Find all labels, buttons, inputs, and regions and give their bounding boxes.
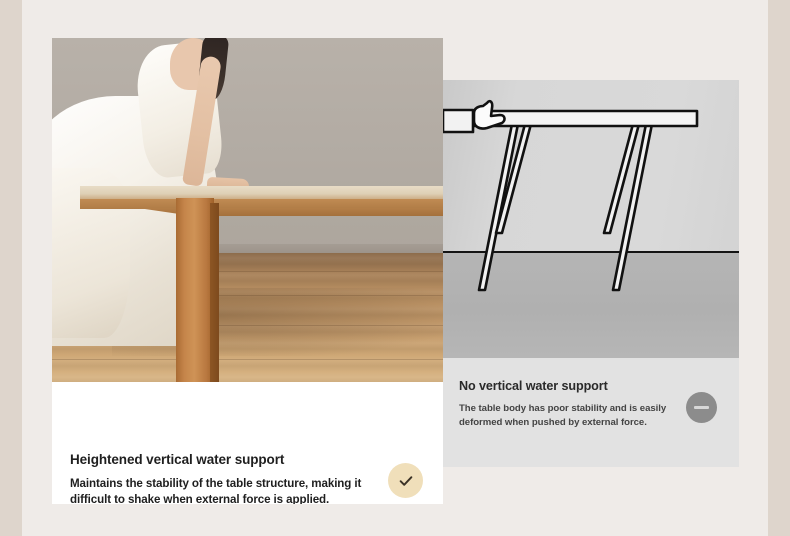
photo-table-top	[80, 186, 443, 200]
feature-description-bad: The table body has poor stability and is…	[459, 402, 681, 429]
photo-table-leg-side	[210, 203, 219, 382]
instability-diagram	[443, 80, 739, 358]
floor-plank-line	[52, 359, 443, 360]
photo-table-apron	[80, 199, 443, 209]
minus-badge	[686, 392, 717, 423]
feature-title-good: Heightened vertical water support	[70, 452, 284, 467]
feature-description-good: Maintains the stability of the table str…	[70, 476, 388, 504]
feature-title-bad: No vertical water support	[459, 379, 608, 393]
feature-card-good-caption: Heightened vertical water support Mainta…	[52, 382, 443, 504]
product-lifestyle-photo	[52, 38, 443, 382]
feature-card-bad[interactable]: No vertical water support The table body…	[443, 80, 739, 467]
minus-icon	[694, 406, 709, 409]
product-feature-comparison: Heightened vertical water support Mainta…	[0, 0, 790, 536]
diagram-forearm	[443, 110, 473, 132]
feature-card-bad-caption: No vertical water support The table body…	[443, 358, 739, 467]
diagram-table-drawing	[443, 80, 739, 358]
photo-table-leg	[176, 198, 214, 382]
diagram-pushing-hand-icon	[474, 101, 504, 128]
diagram-leg-back-left	[479, 124, 518, 290]
check-badge	[388, 463, 423, 498]
feature-card-good[interactable]: Heightened vertical water support Mainta…	[52, 38, 443, 504]
check-icon	[397, 472, 415, 490]
